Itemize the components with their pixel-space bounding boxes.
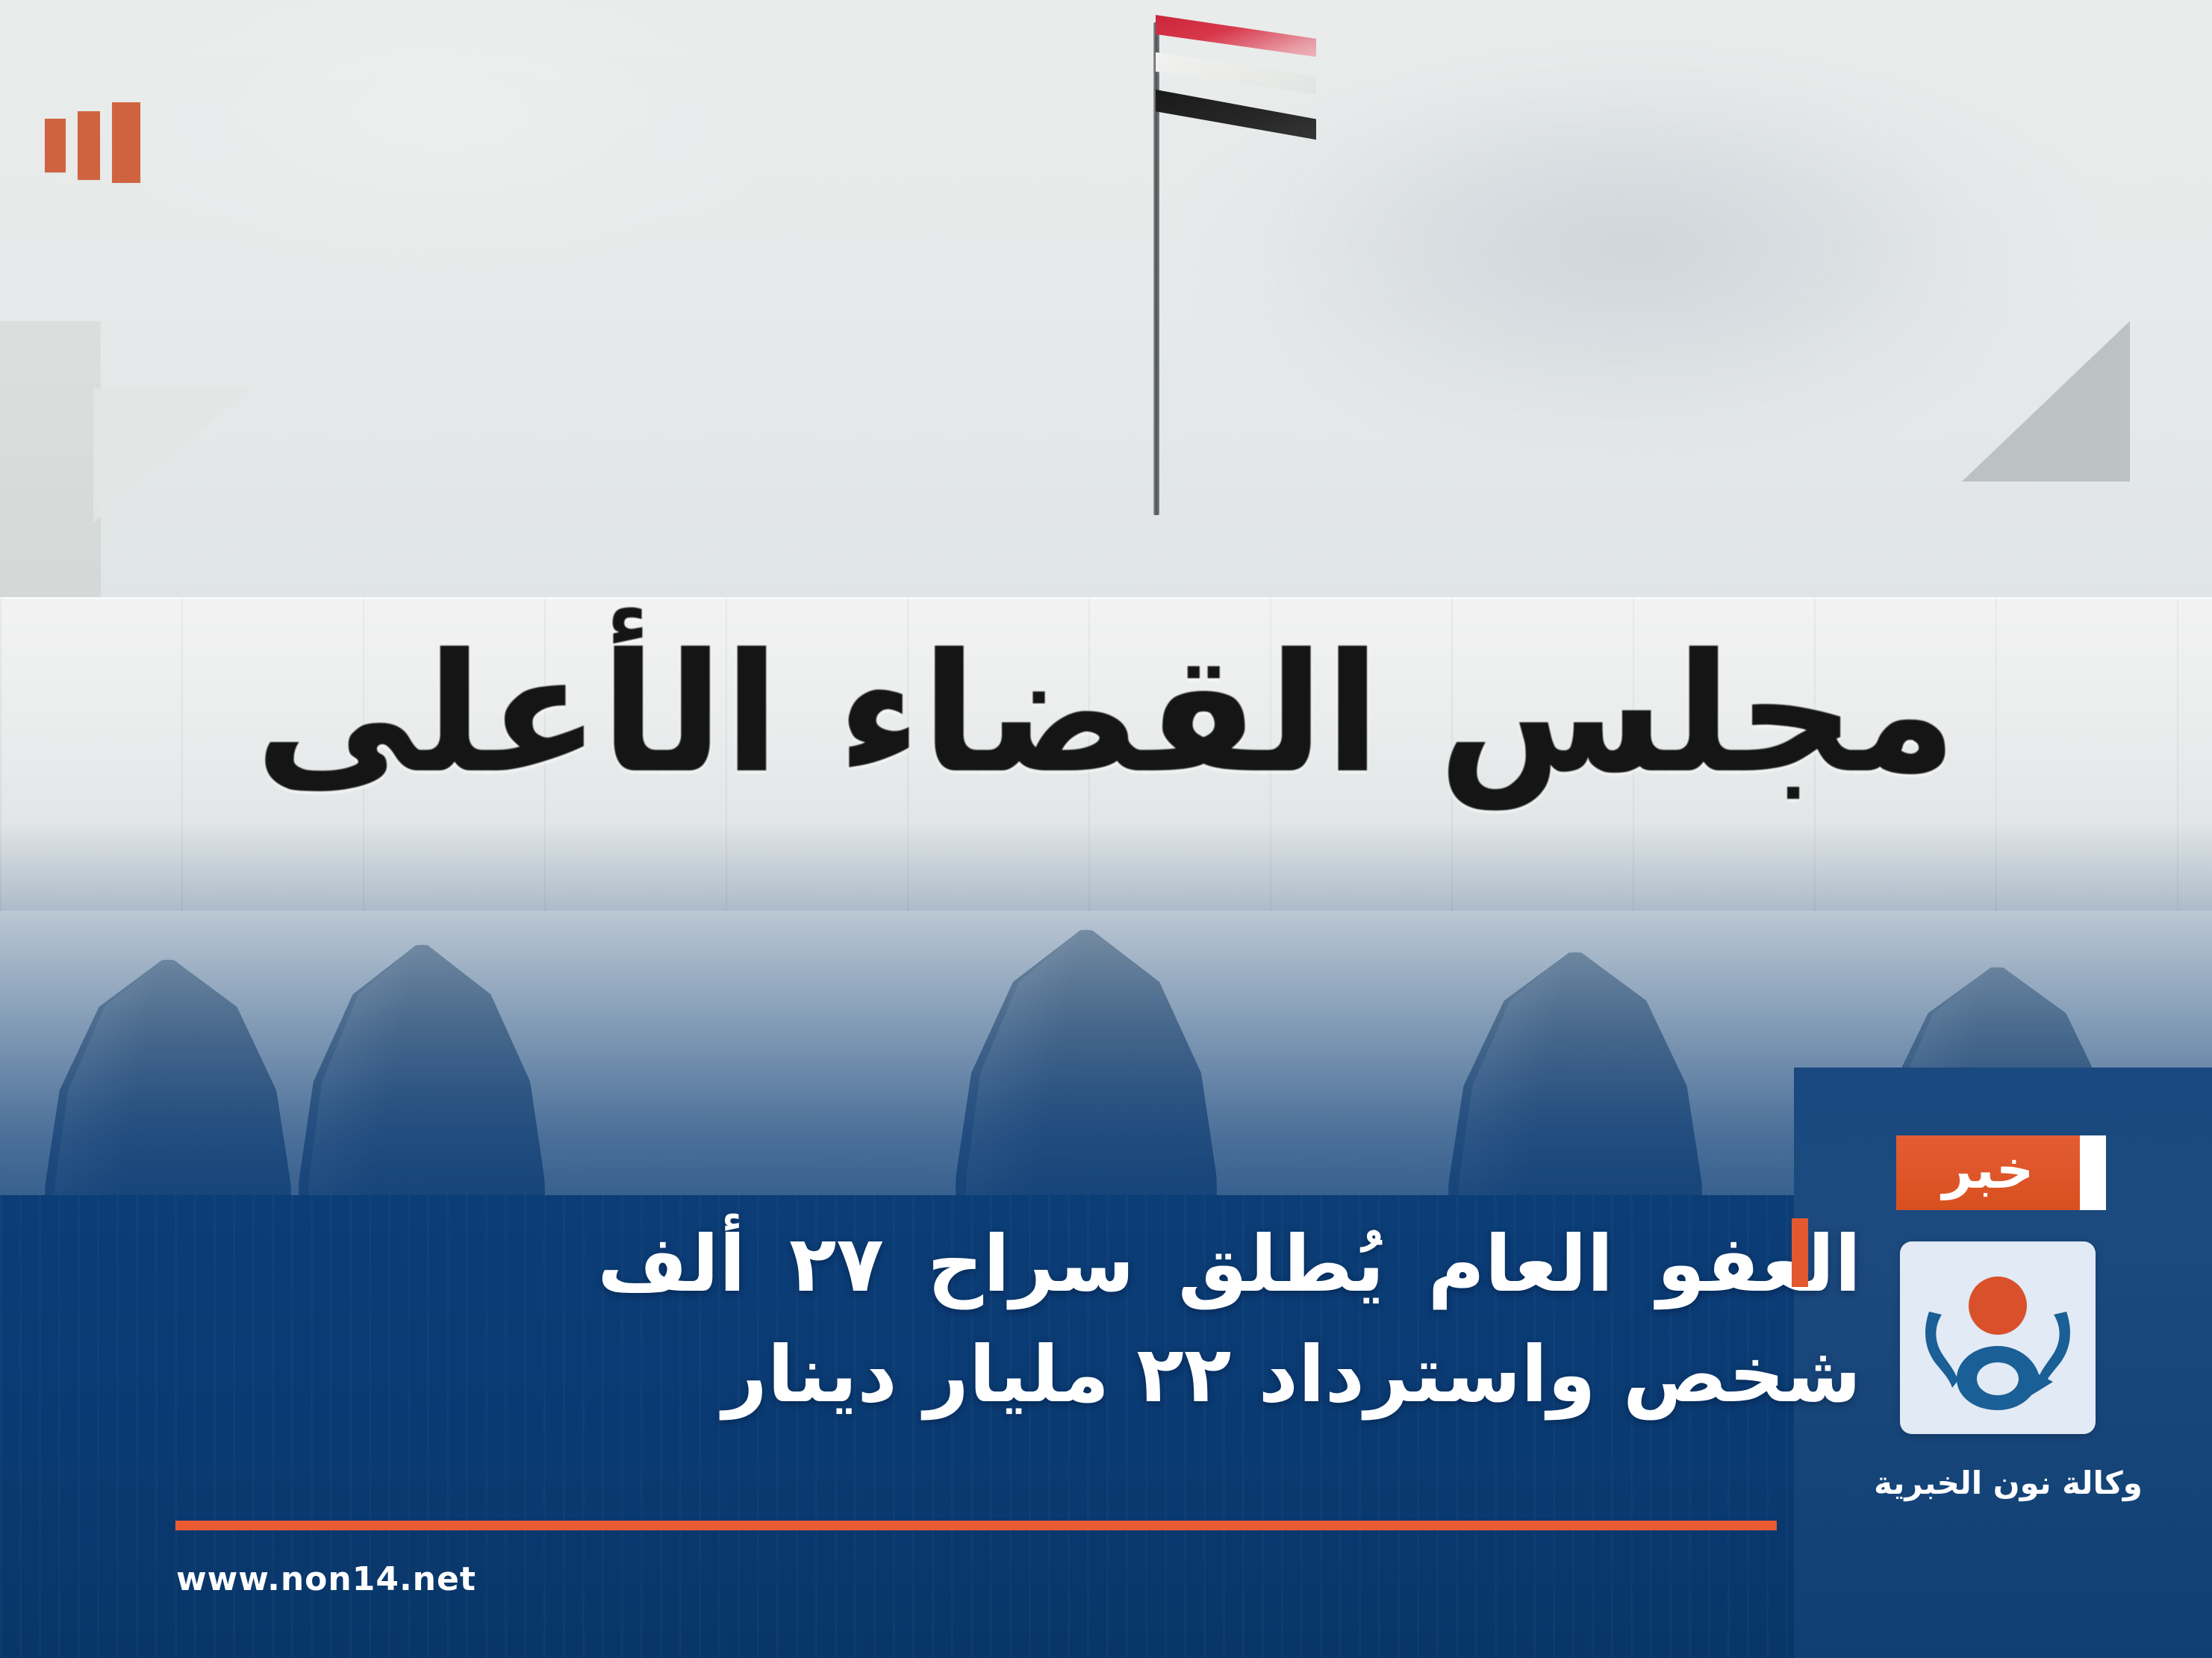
left-roof-slope (93, 388, 250, 523)
sky-haze (1283, 90, 1955, 403)
news-badge-label: خبر (1942, 1144, 2034, 1196)
iraqi-flag-icon (1156, 15, 1316, 187)
agency-name: وكالة نون الخبرية (1859, 1465, 2158, 1501)
logo-bar-1 (112, 102, 140, 183)
badge-white-bar (2080, 1135, 2106, 1210)
left-building-block (0, 321, 101, 627)
news-badge: خبر (1896, 1135, 2080, 1210)
website-url[interactable]: www.non14.net (176, 1560, 476, 1598)
flag-stripe-black (1156, 90, 1316, 154)
wall-inscription: مجلس القضاء الأعلى (0, 602, 2212, 826)
logo-bar-3 (45, 119, 66, 172)
noon-agency-logo-icon (1900, 1241, 2096, 1434)
news-card: مجلس القضاء الأعلى العفو العام يُطلق سرا… (0, 0, 2212, 1658)
logo-bar-2 (78, 111, 100, 180)
headline-line-2: شخص واسترداد ٢٢ مليار دينار (149, 1320, 1861, 1430)
right-triangular-roof (1962, 321, 2130, 481)
three-bars-logo-icon (45, 102, 140, 183)
agency-logo-tile (1900, 1241, 2096, 1434)
headline-accent-bar (1792, 1218, 1808, 1287)
orange-divider (175, 1521, 1777, 1530)
headline: العفو العام يُطلق سراح ٢٧ ألف شخص واسترد… (149, 1209, 1861, 1430)
headline-line-1: العفو العام يُطلق سراح ٢٧ ألف (149, 1209, 1861, 1320)
